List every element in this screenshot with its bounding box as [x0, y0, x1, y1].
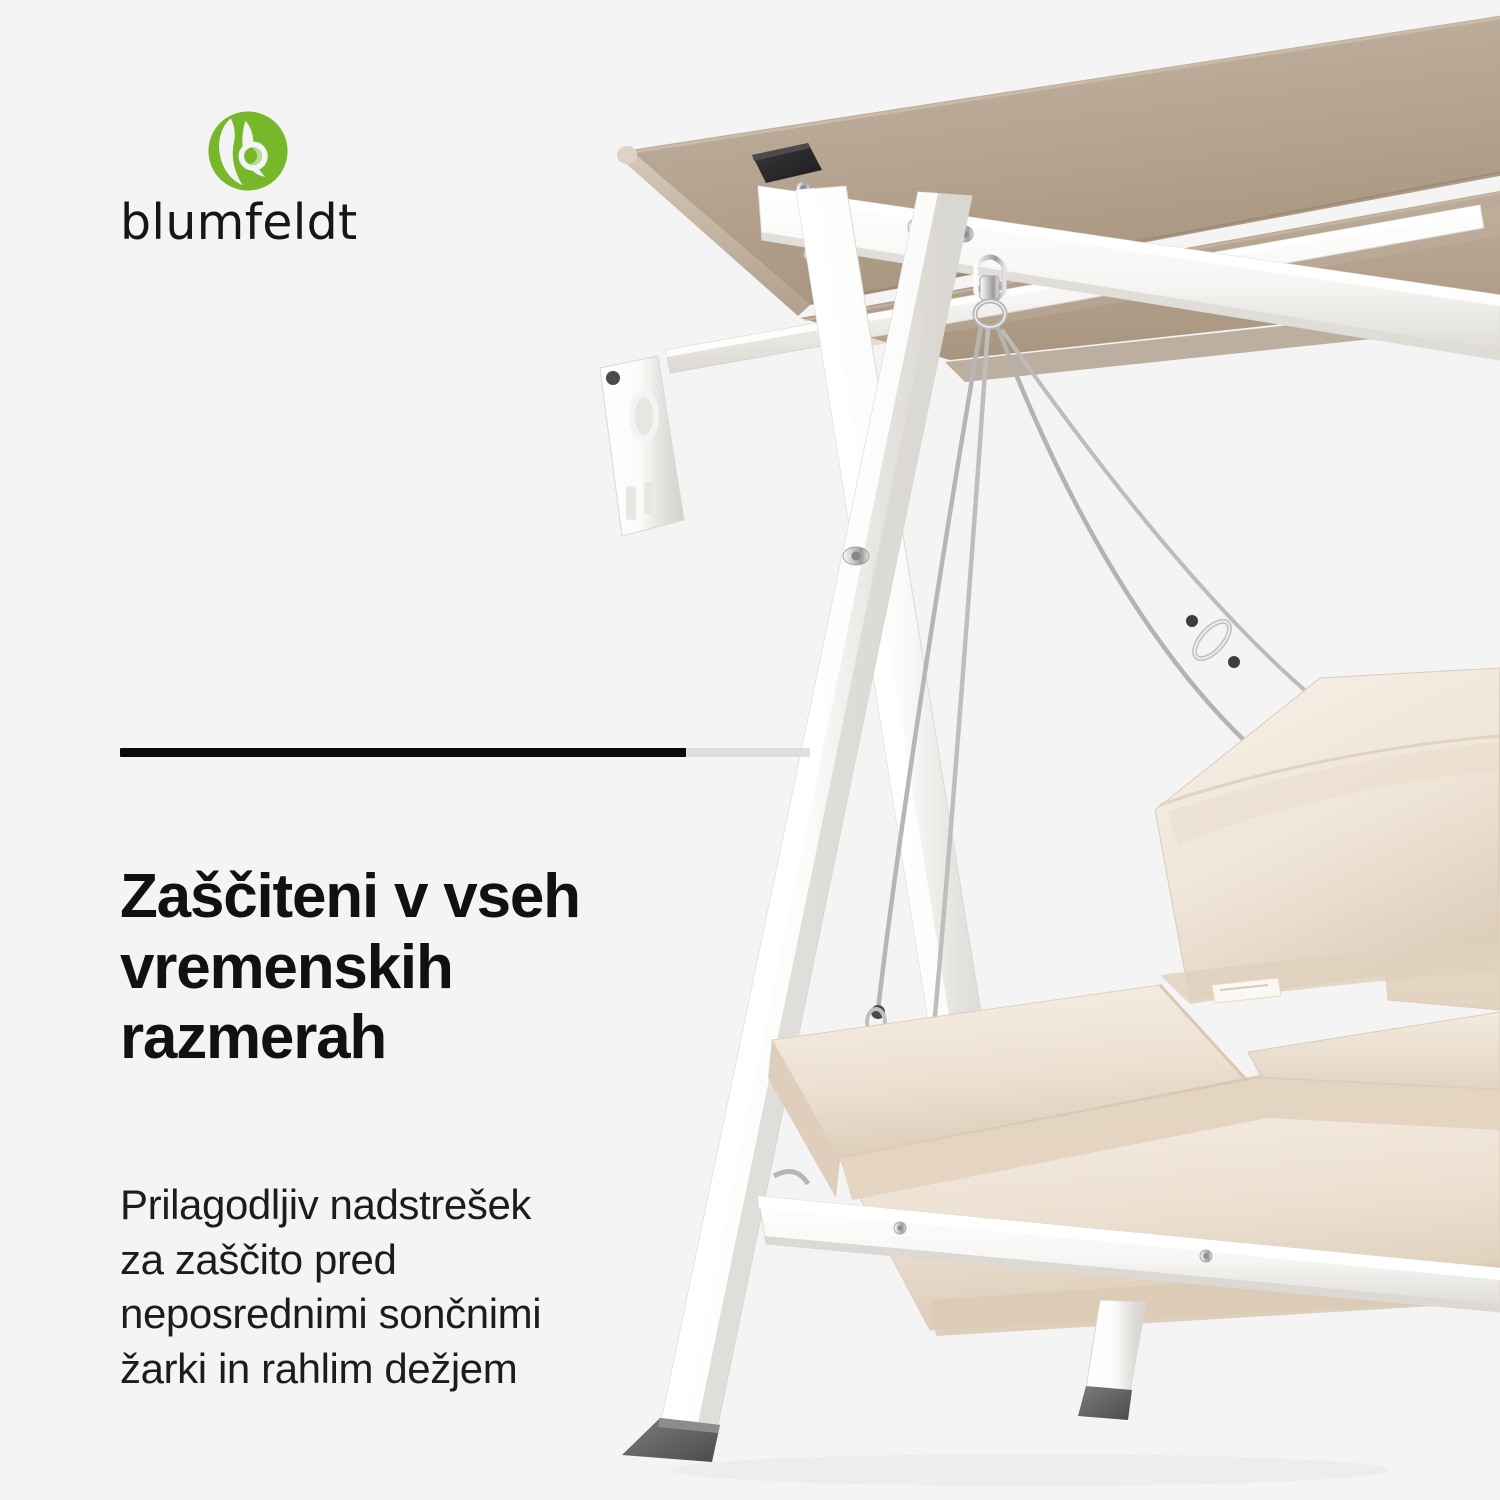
- body-line-3: neposrednimi sončnimi: [120, 1290, 541, 1337]
- promo-banner: blumfeldt Zaščiteni v vseh vremenskih ra…: [0, 0, 1500, 1500]
- body-line-2: za zaščito pred: [120, 1236, 396, 1283]
- headline-line-3: razmerah: [120, 1003, 386, 1072]
- headline-line-1: Zaščiteni v vseh: [120, 862, 580, 931]
- headline-line-2: vremenskih: [120, 933, 453, 1002]
- blumfeldt-leaf-b-icon: [205, 108, 291, 194]
- body-description: Prilagodljiv nadstrešek za zaščito pred …: [120, 1178, 660, 1396]
- seat-leg-foot: [1078, 1386, 1132, 1420]
- leg-pivot-bolt: [843, 547, 869, 565]
- brand-wordmark: blumfeldt: [120, 198, 540, 247]
- brand-logo: blumfeldt: [120, 108, 540, 247]
- body-line-4: žarki in rahlim dežjem: [120, 1345, 517, 1392]
- progress-divider-fill: [120, 748, 686, 757]
- page-title: Zaščiteni v vseh vremenskih razmerah: [120, 862, 680, 1074]
- body-line-1: Prilagodljiv nadstrešek: [120, 1181, 531, 1228]
- progress-divider-track: [120, 748, 810, 757]
